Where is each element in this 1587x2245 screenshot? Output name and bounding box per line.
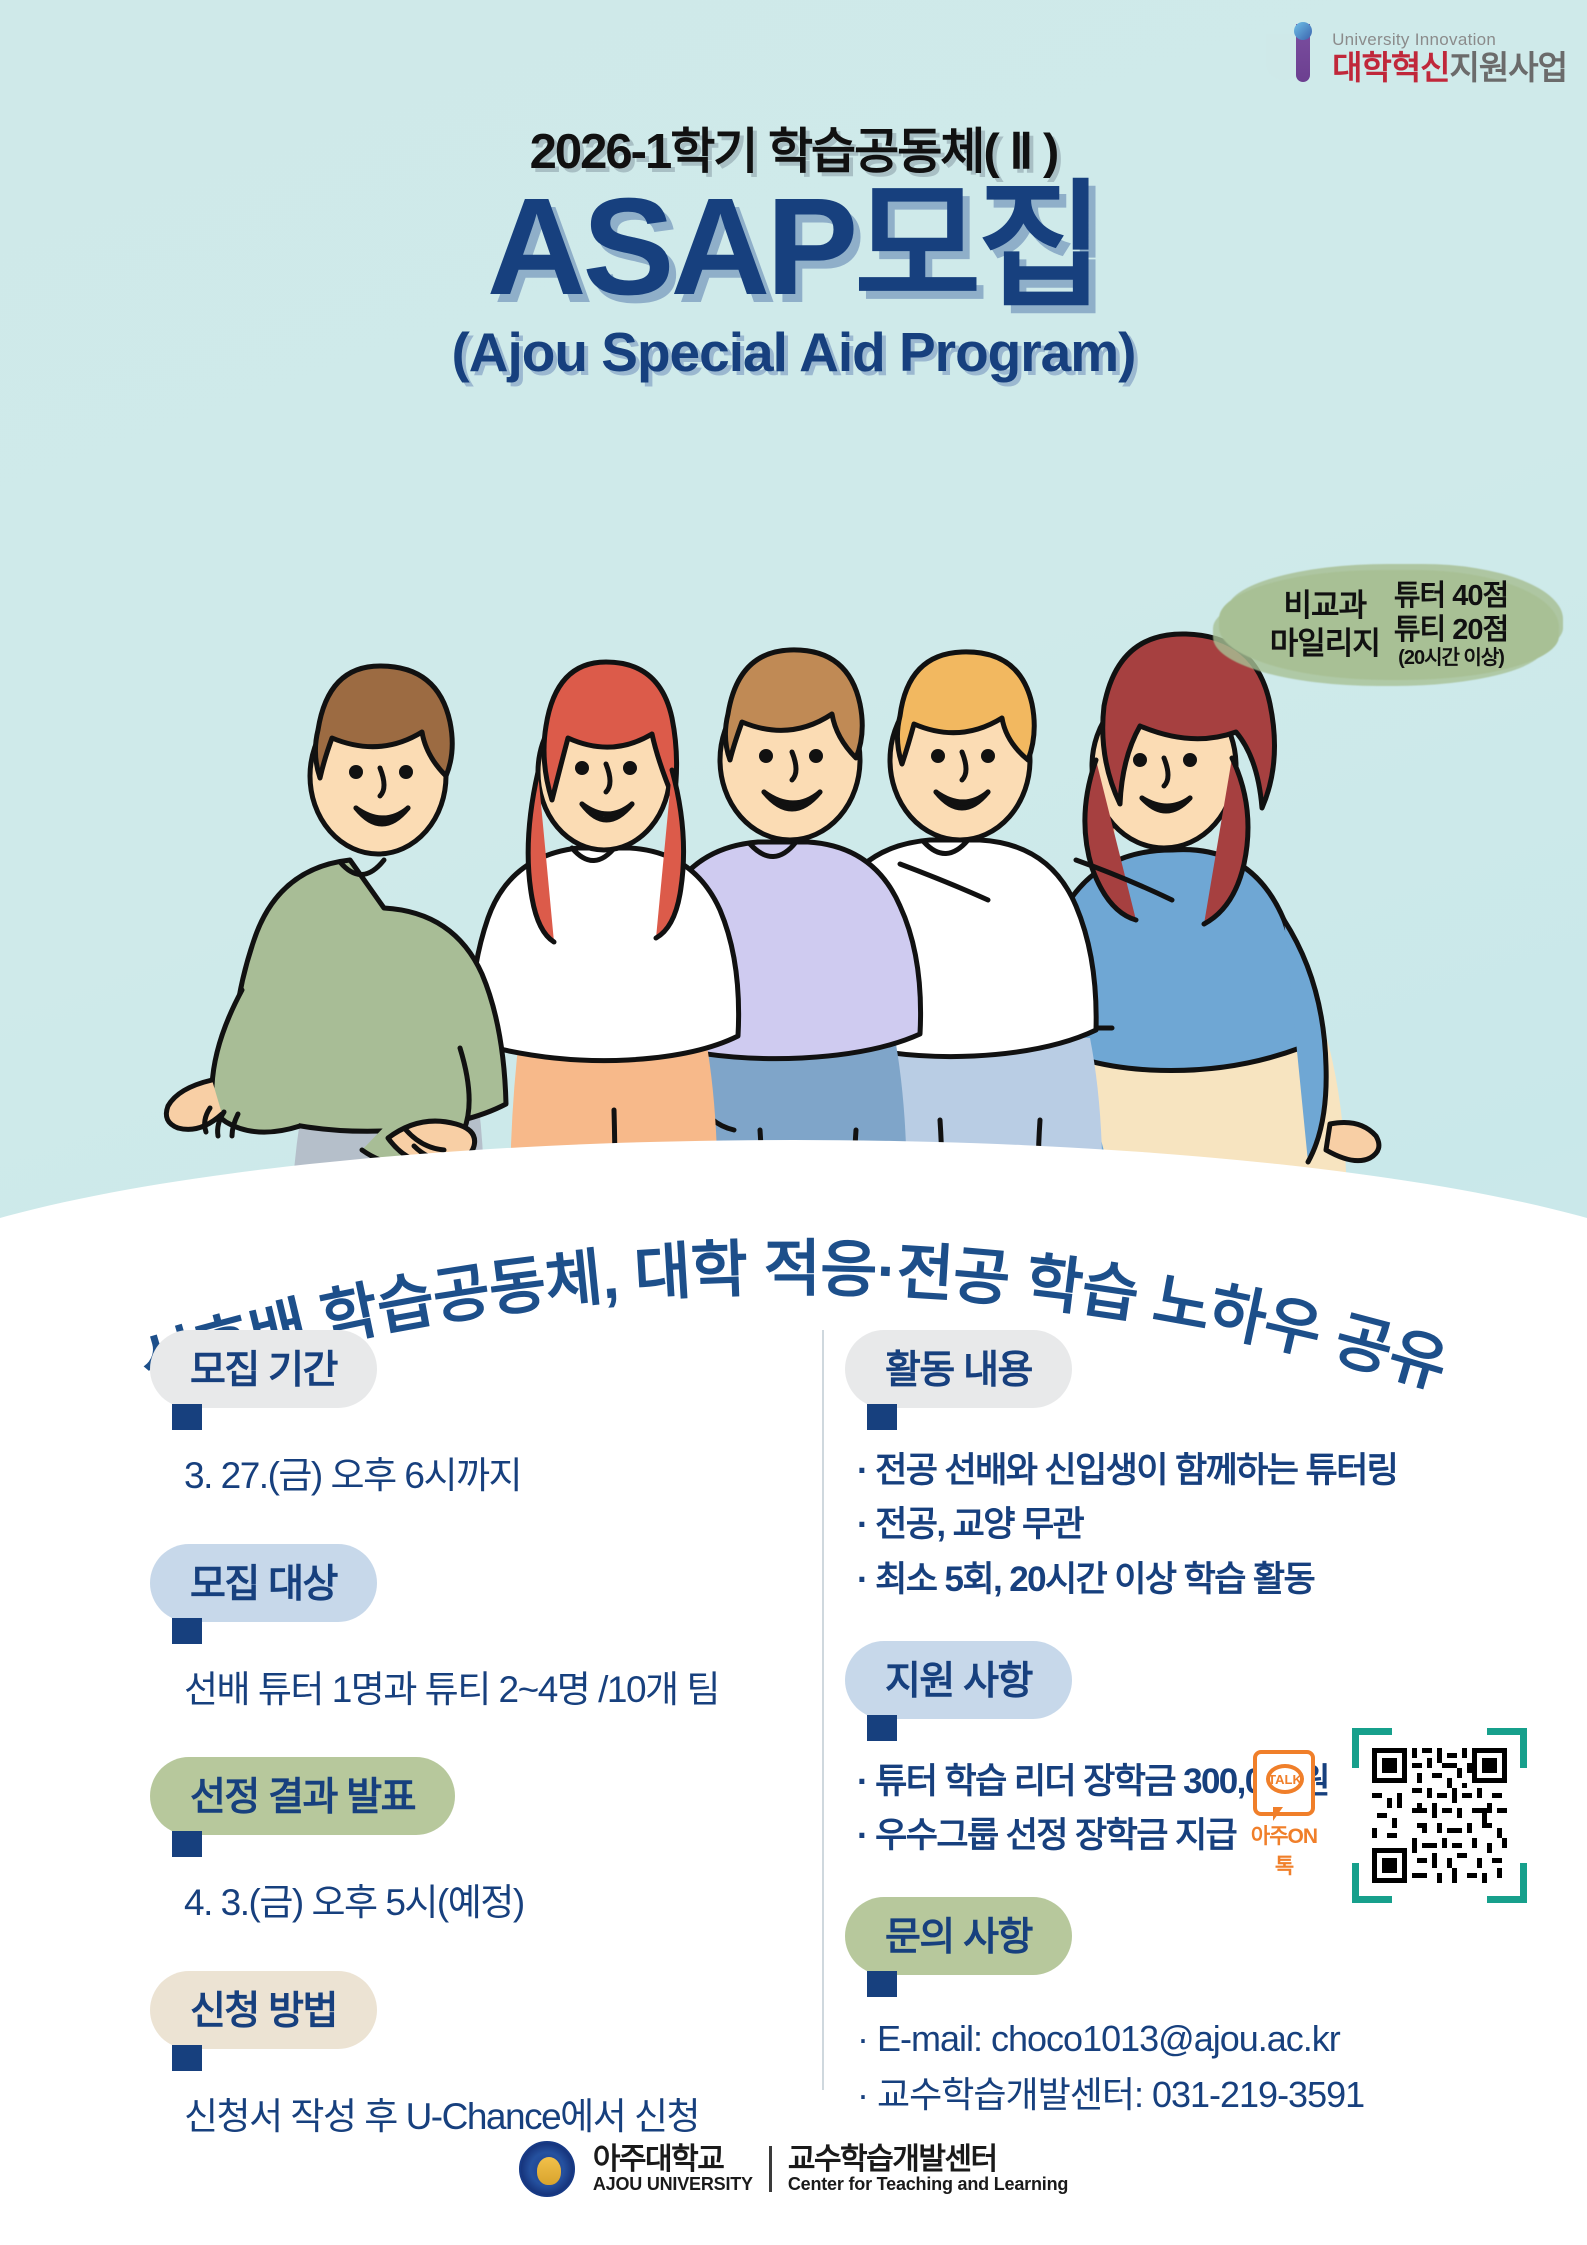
list-inquiry: · E-mail: choco1013@ajou.ac.kr · 교수학습개발센… [857,2011,1587,2123]
logo-en-label: University Innovation [1332,31,1567,48]
list-item-phone: · 교수학습개발센터: 031-219-3591 [857,2067,1587,2123]
footer-logos: 아주대학교 AJOU UNIVERSITY 교수학습개발센터 Center fo… [0,2141,1587,2197]
section-inquiry: 문의 사항 · E-mail: choco1013@ajou.ac.kr · 교… [845,1897,1587,2123]
text-recruit-period: 3. 27.(금) 오후 6시까지 [184,1448,805,1504]
badge-right-line2: 튜티 20점 [1394,613,1508,647]
section-activity-content: 활동 내용 · 전공 선배와 신입생이 함께하는 튜터링 · 전공, 교양 무관… [845,1330,1587,1607]
qr-code[interactable] [1352,1728,1527,1903]
talk-label: TALK [1266,1764,1304,1794]
pill-application-method: 신청 방법 [150,1971,377,2049]
page-subtitle: (Ajou Special Aid Program) [0,320,1587,384]
footer-university-en: AJOU UNIVERSITY [593,2175,753,2194]
ajou-on-talk-icon[interactable]: TALK 아주ON톡 [1245,1750,1323,1880]
pill-activity-content: 활동 내용 [845,1330,1072,1408]
qr-block[interactable]: TALK 아주ON톡 [1337,1728,1527,1903]
section-recruit-target: 모집 대상 선배 튜터 1명과 튜티 2~4명 /10개 팀 [150,1544,805,1718]
mileage-badge: 비교과 마일리지 튜터 40점 튜티 20점 (20시간 이상) [1219,570,1559,680]
ajou-seal-icon [519,2141,575,2197]
list-item: · 최소 5회, 20시간 이상 학습 활동 [857,1553,1587,1607]
footer-center-kr: 교수학습개발센터 [788,2144,1068,2176]
university-innovation-logo: University Innovation 대학혁신지원사업 [1264,22,1567,84]
pill-inquiry: 문의 사항 [845,1897,1072,1975]
section-result-announcement: 선정 결과 발표 4. 3.(금) 오후 5시(예정) [150,1757,805,1931]
section-application-method: 신청 방법 신청서 작성 후 U-Chance에서 신청 [150,1971,805,2145]
logo-kr-gray: 지원사업 [1450,49,1567,86]
footer-university-kr: 아주대학교 [593,2144,753,2176]
list-item: · 전공 선배와 신입생이 함께하는 튜터링 [857,1444,1587,1498]
qr-matrix-icon [1372,1748,1507,1883]
footer-center-en: Center for Teaching and Learning [788,2175,1068,2194]
badge-left-line1: 비교과 [1270,587,1380,625]
list-item-email: · E-mail: choco1013@ajou.ac.kr [857,2011,1587,2067]
section-recruit-period: 모집 기간 3. 27.(금) 오후 6시까지 [150,1330,805,1504]
pill-recruit-target: 모집 대상 [150,1544,377,1622]
badge-left-line2: 마일리지 [1270,625,1380,663]
pill-recruit-period: 모집 기간 [150,1330,377,1408]
footer-divider [769,2146,772,2192]
text-application-method: 신청서 작성 후 U-Chance에서 신청 [184,2089,805,2145]
text-result-announcement: 4. 3.(금) 오후 5시(예정) [184,1875,805,1931]
right-column: 활동 내용 · 전공 선배와 신입생이 함께하는 튜터링 · 전공, 교양 무관… [805,1330,1587,2120]
pill-result-announcement: 선정 결과 발표 [150,1757,455,1835]
badge-right-line1: 튜터 40점 [1394,579,1508,613]
list-item: · 전공, 교양 무관 [857,1498,1587,1552]
left-column: 모집 기간 3. 27.(금) 오후 6시까지 모집 대상 선배 튜터 1명과 … [0,1330,805,2120]
badge-right-note: (20시간 이상) [1394,647,1508,671]
list-activity-content: · 전공 선배와 신입생이 함께하는 튜터링 · 전공, 교양 무관 · 최소 … [857,1444,1587,1607]
text-recruit-target: 선배 튜터 1명과 튜티 2~4명 /10개 팀 [184,1662,805,1718]
poster-root: University Innovation 대학혁신지원사업 2026-1학기 … [0,0,1587,2245]
uj-mark-icon [1264,22,1322,84]
page-title: ASAP모집 [0,178,1587,316]
logo-kr-red: 대학혁신 [1332,49,1449,86]
pill-support-details: 지원 사항 [845,1641,1072,1719]
talk-caption: 아주ON톡 [1245,1820,1323,1880]
